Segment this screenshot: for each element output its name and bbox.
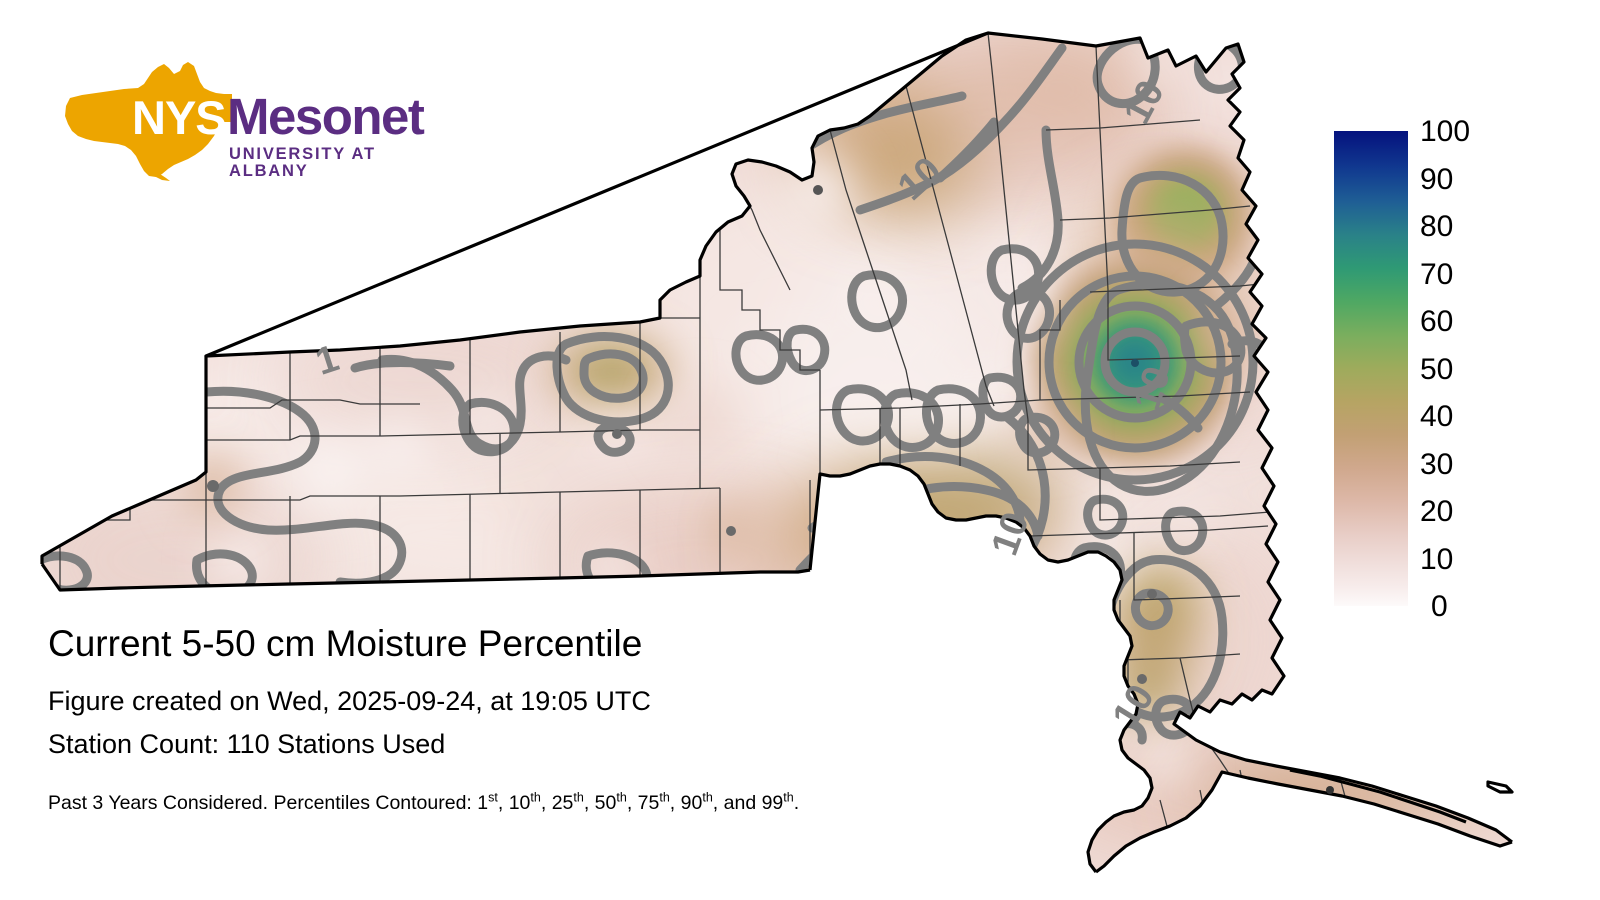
- colorbar-tick-80: 80: [1420, 212, 1453, 242]
- colorbar-tick-90: 90: [1420, 165, 1453, 195]
- figure-canvas: NYS Mesonet UNIVERSITY AT ALBANY: [0, 0, 1600, 900]
- colorbar-tick-70: 70: [1420, 260, 1453, 290]
- colorbar-tick-10: 10: [1420, 545, 1453, 575]
- caption-block: Current 5-50 cm Moisture Percentile Figu…: [48, 625, 1048, 814]
- colorbar-tick-60: 60: [1420, 307, 1453, 337]
- colorbar-tick-20: 20: [1420, 497, 1453, 527]
- colorbar-tick-50: 50: [1420, 355, 1453, 385]
- percentile-note-line: Past 3 Years Considered. Percentiles Con…: [48, 794, 1048, 814]
- colorbar-gradient: [1334, 131, 1408, 606]
- colorbar: 100 90 80 70 60 50 40 30 20 10 0: [1334, 131, 1408, 606]
- colorbar-tick-0: 0: [1431, 592, 1448, 622]
- colorbar-tick-30: 30: [1420, 450, 1453, 480]
- colorbar-tick-100: 100: [1420, 117, 1470, 147]
- colorbar-tick-40: 40: [1420, 402, 1453, 432]
- station-count-line: Station Count: 110 Stations Used: [48, 731, 1048, 758]
- figure-created-line: Figure created on Wed, 2025-09-24, at 19…: [48, 688, 1048, 715]
- figure-title: Current 5-50 cm Moisture Percentile: [48, 625, 1048, 662]
